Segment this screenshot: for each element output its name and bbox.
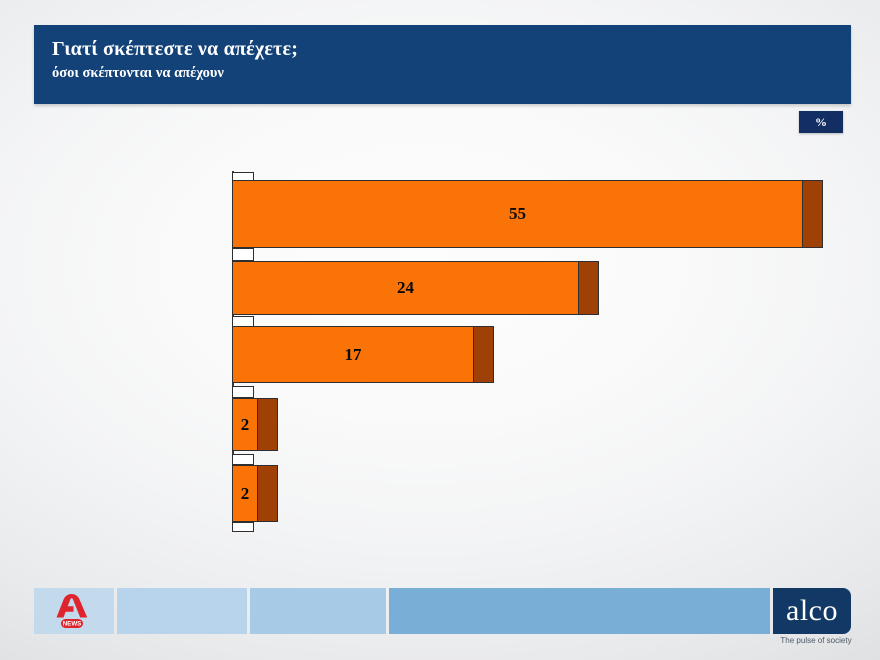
axis-stub bbox=[232, 522, 254, 532]
bar-end-cap bbox=[802, 180, 823, 248]
bar-17[interactable]: 17 bbox=[232, 326, 494, 383]
axis-stub bbox=[232, 248, 254, 261]
bar-2-b[interactable]: 2 bbox=[232, 465, 278, 522]
bar-55[interactable]: 55 bbox=[232, 180, 823, 248]
bar-end-cap bbox=[578, 261, 599, 315]
footer-segment-3 bbox=[250, 588, 386, 634]
axis-stub bbox=[232, 386, 254, 398]
alco-wordmark: alco bbox=[786, 596, 838, 626]
footer-segment-4 bbox=[389, 588, 770, 634]
alco-logo: alco bbox=[773, 588, 851, 634]
bar-body bbox=[232, 261, 579, 315]
alco-tagline: The pulse of society bbox=[773, 636, 859, 645]
slide-canvas: Γιατί σκέπτεστε να απέχετε; όσοι σκέπτον… bbox=[0, 0, 880, 660]
bar-end-cap bbox=[257, 465, 278, 522]
bar-end-cap bbox=[257, 398, 278, 451]
axis-stub bbox=[232, 172, 254, 181]
bar-body bbox=[232, 465, 258, 522]
bar-24[interactable]: 24 bbox=[232, 261, 599, 315]
footer-segment-2 bbox=[117, 588, 247, 634]
bar-2-a[interactable]: 2 bbox=[232, 398, 278, 451]
axis-stub bbox=[232, 454, 254, 465]
bar-body bbox=[232, 398, 258, 451]
anews-logo-icon: NEWS bbox=[52, 592, 92, 630]
axis-stub bbox=[232, 316, 254, 327]
bar-body bbox=[232, 180, 803, 248]
bar-end-cap bbox=[473, 326, 494, 383]
footer-bar: NEWS alco The pulse of society bbox=[0, 588, 880, 660]
bar-body bbox=[232, 326, 474, 383]
svg-text:NEWS: NEWS bbox=[63, 621, 82, 628]
bar-chart: ΤΟ ΠΟΛΙΤΙΚΟ ΣΥΣΤΗΜΑ ΕΙΝΑΙ ΔΙΕΦΘΑΡΜΕΝΟ 55… bbox=[0, 0, 880, 660]
